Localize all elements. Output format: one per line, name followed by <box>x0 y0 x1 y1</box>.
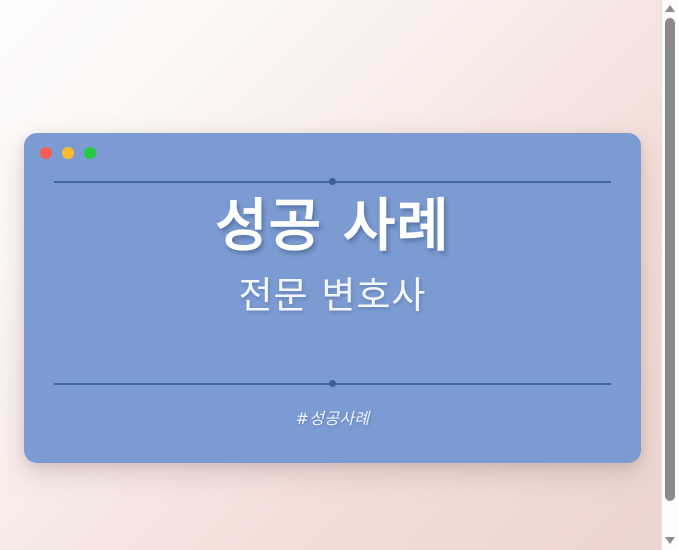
scrollbar-thumb[interactable] <box>665 18 675 501</box>
divider-top-knob-icon <box>329 178 336 185</box>
divider-bottom-knob-icon <box>329 380 336 387</box>
slide-hashtag: #성공사례 <box>24 405 641 429</box>
slide-card[interactable]: 성공 사례 전문 변호사 #성공사례 <box>24 133 641 463</box>
viewport: 성공 사례 전문 변호사 #성공사례 <box>0 0 678 550</box>
scroll-down-arrow-icon[interactable] <box>665 537 675 544</box>
divider-bottom <box>54 378 611 389</box>
window-controls <box>40 147 96 159</box>
slide-title: 성공 사례 <box>24 193 641 260</box>
vertical-scrollbar[interactable] <box>661 0 678 550</box>
maximize-icon[interactable] <box>84 147 96 159</box>
close-icon[interactable] <box>40 147 52 159</box>
minimize-icon[interactable] <box>62 147 74 159</box>
slide-text-block: 성공 사례 전문 변호사 <box>24 193 641 319</box>
divider-top <box>54 176 611 187</box>
scroll-up-arrow-icon[interactable] <box>665 5 675 12</box>
slide-subtitle: 전문 변호사 <box>24 274 641 318</box>
